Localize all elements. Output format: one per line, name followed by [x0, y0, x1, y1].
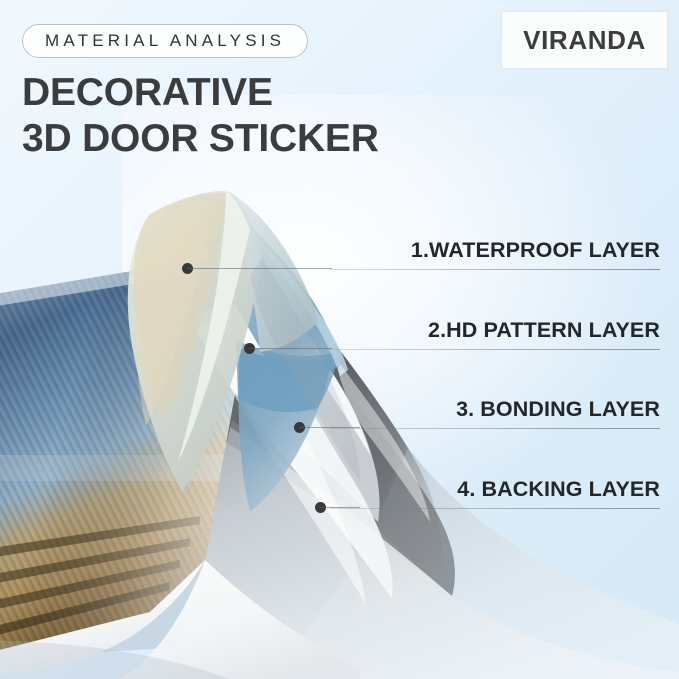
- callout-dot-2: [244, 343, 255, 354]
- callout-dot-1: [182, 263, 193, 274]
- callout-waterproof-layer: 1.WATERPROOF LAYER: [330, 240, 660, 270]
- callout-rule-3: [330, 428, 660, 429]
- callout-label-4: 4. BACKING LAYER: [330, 479, 660, 508]
- callout-backing-layer: 4. BACKING LAYER: [330, 479, 660, 509]
- title-line-2: 3D DOOR STICKER: [22, 116, 379, 162]
- callout-label-2: 2.HD PATTERN LAYER: [330, 320, 660, 349]
- callout-hd-pattern-layer: 2.HD PATTERN LAYER: [330, 320, 660, 350]
- eyebrow-badge: MATERIAL ANALYSIS: [22, 24, 308, 58]
- page-title: DECORATIVE 3D DOOR STICKER: [22, 70, 379, 162]
- callout-rule-2: [330, 349, 660, 350]
- callout-rule-4: [330, 508, 660, 509]
- callout-dot-3: [294, 422, 305, 433]
- infographic-canvas: MATERIAL ANALYSIS DECORATIVE 3D DOOR STI…: [0, 0, 679, 679]
- callout-dot-4: [315, 502, 326, 513]
- brand-panel: VIRANDA: [502, 12, 667, 68]
- callout-rule-1: [330, 269, 660, 270]
- brand-name: VIRANDA: [523, 25, 646, 56]
- callout-label-3: 3. BONDING LAYER: [330, 399, 660, 428]
- callout-bonding-layer: 3. BONDING LAYER: [330, 399, 660, 429]
- title-line-1: DECORATIVE: [22, 70, 379, 116]
- callout-label-1: 1.WATERPROOF LAYER: [330, 240, 660, 269]
